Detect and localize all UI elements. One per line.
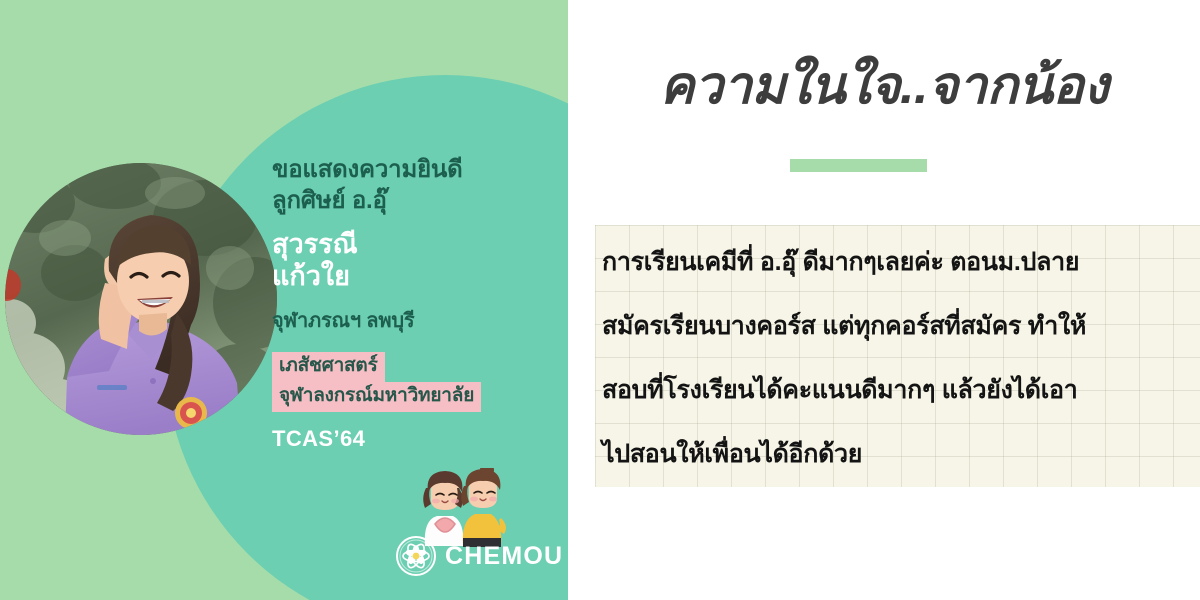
- congrats-line-2: ลูกศิษย์ อ.อุ๊: [272, 186, 562, 217]
- school-name: จุฬาภรณฯ ลพบุรี: [272, 304, 562, 336]
- card-text-block: ขอแสดงความยินดี ลูกศิษย์ อ.อุ๊ สุวรรณี แ…: [272, 155, 562, 452]
- university-tag: จุฬาลงกรณ์มหาวิทยาลัย: [272, 382, 481, 412]
- brand-lockup: CHEMOU: [396, 536, 563, 576]
- right-white-panel: ความในใจ..จากน้อง การเรียนเคมีที่ อ.อุ๊ …: [568, 0, 1200, 600]
- brand-name: CHEMOU: [445, 542, 563, 571]
- title-underline-bar: [790, 159, 927, 172]
- faculty-tags: เภสัชศาสตร์ จุฬาลงกรณ์มหาวิทยาลัย: [272, 352, 562, 412]
- faculty-tag: เภสัชศาสตร์: [272, 352, 385, 382]
- congrats-line-1: ขอแสดงความยินดี: [272, 155, 562, 186]
- promo-card-canvas: ขอแสดงความยินดี ลูกศิษย์ อ.อุ๊ สุวรรณี แ…: [0, 0, 1200, 600]
- note-line: สอบที่โรงเรียนได้คะแนนดีมากๆ แล้วยังได้เ…: [602, 358, 1200, 422]
- note-paper: การเรียนเคมีที่ อ.อุ๊ ดีมากๆเลยค่ะ ตอนม.…: [595, 225, 1200, 487]
- note-line: ไปสอนให้เพื่อนได้อีกด้วย: [602, 422, 1200, 486]
- left-green-panel: ขอแสดงความยินดี ลูกศิษย์ อ.อุ๊ สุวรรณี แ…: [0, 0, 568, 600]
- atom-flower-icon: [396, 536, 436, 576]
- note-line: การเรียนเคมีที่ อ.อุ๊ ดีมากๆเลยค่ะ ตอนม.…: [602, 230, 1200, 294]
- note-line: สมัครเรียนบางคอร์ส แต่ทุกคอร์สที่สมัคร ท…: [602, 294, 1200, 358]
- tcas-label: TCAS’64: [272, 426, 562, 452]
- testimonial-text: การเรียนเคมีที่ อ.อุ๊ ดีมากๆเลยค่ะ ตอนม.…: [602, 230, 1200, 486]
- section-title: ความในใจ..จากน้อง: [568, 58, 1200, 115]
- student-name-first: สุวรรณี: [272, 229, 562, 260]
- student-photo: [5, 163, 277, 435]
- student-name-last: แก้วใย: [272, 261, 562, 292]
